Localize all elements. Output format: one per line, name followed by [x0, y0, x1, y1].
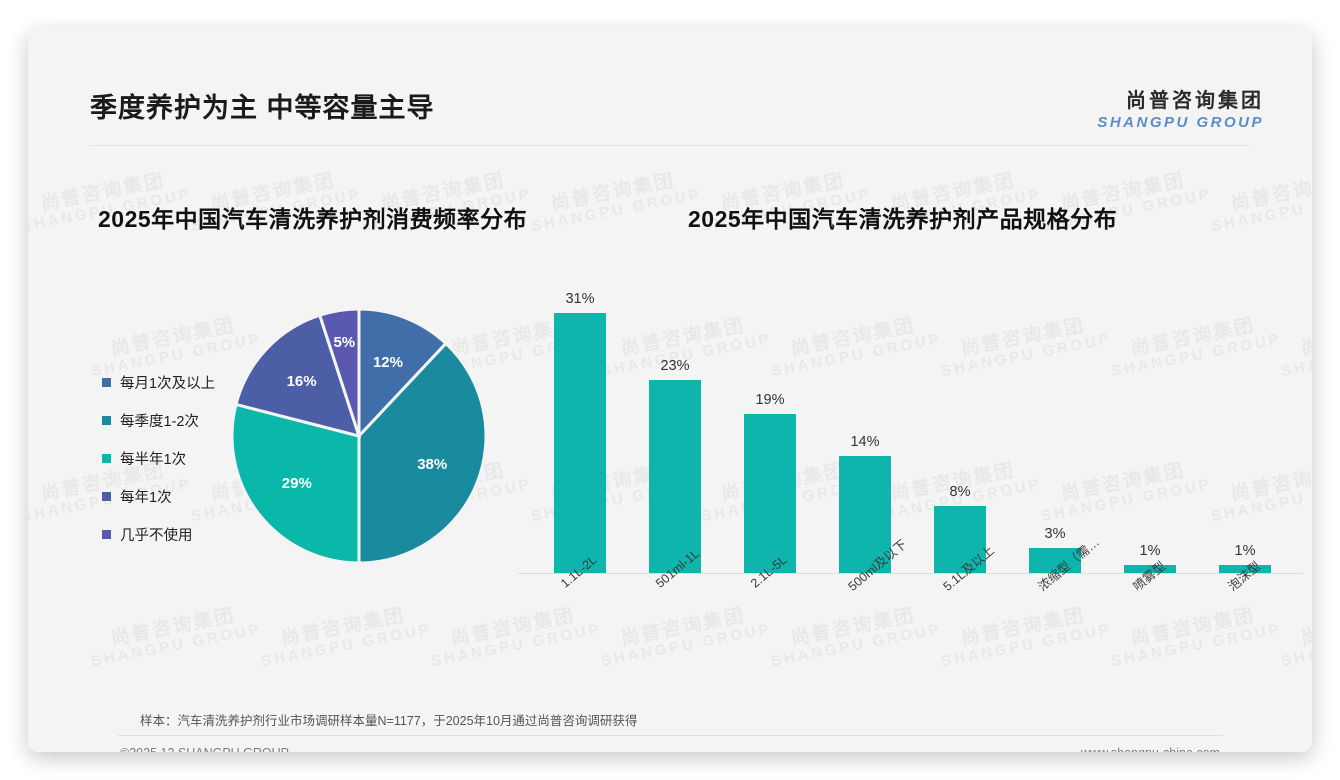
pie-slice-label: 38% — [417, 456, 447, 473]
slide-card: 尚普咨询集团SHANGPU GROUP尚普咨询集团SHANGPU GROUP尚普… — [28, 28, 1312, 752]
logo-text-en: SHANGPU GROUP — [1097, 114, 1264, 131]
pie-chart-title: 2025年中国汽车清洗养护剂消费频率分布 — [98, 200, 527, 234]
legend-color-swatch — [102, 378, 111, 387]
legend-color-swatch — [102, 416, 111, 425]
legend-color-swatch — [102, 492, 111, 501]
legend-color-swatch — [102, 454, 111, 463]
bar-rect[interactable] — [554, 313, 606, 573]
pie-legend-item[interactable]: 每月1次及以上 — [102, 363, 215, 401]
bar-column[interactable]: 31% — [554, 291, 606, 573]
watermark-text-en: SHANGPU GROUP — [530, 186, 703, 235]
bar-value-label: 19% — [755, 392, 784, 408]
bar-axis-line — [518, 573, 1303, 574]
page-title: 季度养护为主 中等容量主导 — [90, 86, 435, 125]
slide-header: 季度养护为主 中等容量主导 尚普咨询集团 SHANGPU GROUP — [28, 28, 1312, 126]
bar-value-label: 31% — [565, 291, 594, 307]
pie-slice-label: 29% — [282, 475, 312, 492]
watermark-text-cn: 尚普咨询集团 — [1206, 167, 1312, 220]
pie-legend-item[interactable]: 每年1次 — [102, 477, 215, 515]
watermark-tile: 尚普咨询集团SHANGPU GROUP — [1206, 167, 1312, 235]
pie-legend-item[interactable]: 几乎不使用 — [102, 515, 215, 553]
bar-rect[interactable] — [649, 380, 701, 573]
pie-slice-label: 5% — [333, 334, 355, 351]
watermark-text-cn: 尚普咨询集团 — [526, 167, 700, 220]
pie-chart: 12%38%29%16%5% — [229, 306, 489, 566]
pie-legend-item[interactable]: 每半年1次 — [102, 439, 215, 477]
legend-item-label: 每半年1次 — [120, 448, 186, 469]
legend-item-label: 几乎不使用 — [120, 524, 193, 545]
bar-value-label: 8% — [950, 484, 971, 500]
bar-plot-area: 31%23%19%14%8%3%1%1% — [526, 288, 1286, 573]
logo-text-cn: 尚普咨询集团 — [1097, 84, 1264, 113]
company-logo: 尚普咨询集团 SHANGPU GROUP — [1097, 84, 1264, 131]
pie-chart-svg: 12%38%29%16%5% — [229, 306, 489, 566]
bar-value-label: 3% — [1045, 526, 1066, 542]
watermark-text-en: SHANGPU GROUP — [1210, 186, 1312, 235]
bar-value-label: 23% — [660, 358, 689, 374]
pie-slice-label: 12% — [373, 354, 403, 371]
header-divider — [90, 145, 1250, 146]
legend-item-label: 每年1次 — [120, 486, 172, 507]
watermark-tile: 尚普咨询集团SHANGPU GROUP — [526, 167, 703, 235]
footer-divider — [118, 735, 1223, 736]
legend-item-label: 每季度1-2次 — [120, 410, 199, 431]
bar-chart-title: 2025年中国汽车清洗养护剂产品规格分布 — [688, 200, 1117, 234]
bar-value-label: 14% — [850, 434, 879, 450]
bar-column[interactable]: 23% — [649, 358, 701, 573]
pie-legend-item[interactable]: 每季度1-2次 — [102, 401, 215, 439]
footer-website: www.shangpu-china.com — [1081, 746, 1220, 752]
footer-copyright: ©2025.12 SHANGPU GROUP — [120, 746, 289, 752]
pie-slice-label: 16% — [287, 373, 317, 390]
pie-legend: 每月1次及以上每季度1-2次每半年1次每年1次几乎不使用 — [102, 363, 215, 553]
legend-color-swatch — [102, 530, 111, 539]
bar-chart-section: 31%23%19%14%8%3%1%1% 1.1L-2L501ml-1L2.1L… — [508, 278, 1298, 668]
bar-column[interactable]: 19% — [744, 392, 796, 573]
sample-note: 样本：汽车清洗养护剂行业市场调研样本量N=1177，于2025年10月通过尚普咨… — [140, 710, 637, 729]
legend-item-label: 每月1次及以上 — [120, 372, 215, 393]
bar-rect[interactable] — [744, 414, 796, 573]
